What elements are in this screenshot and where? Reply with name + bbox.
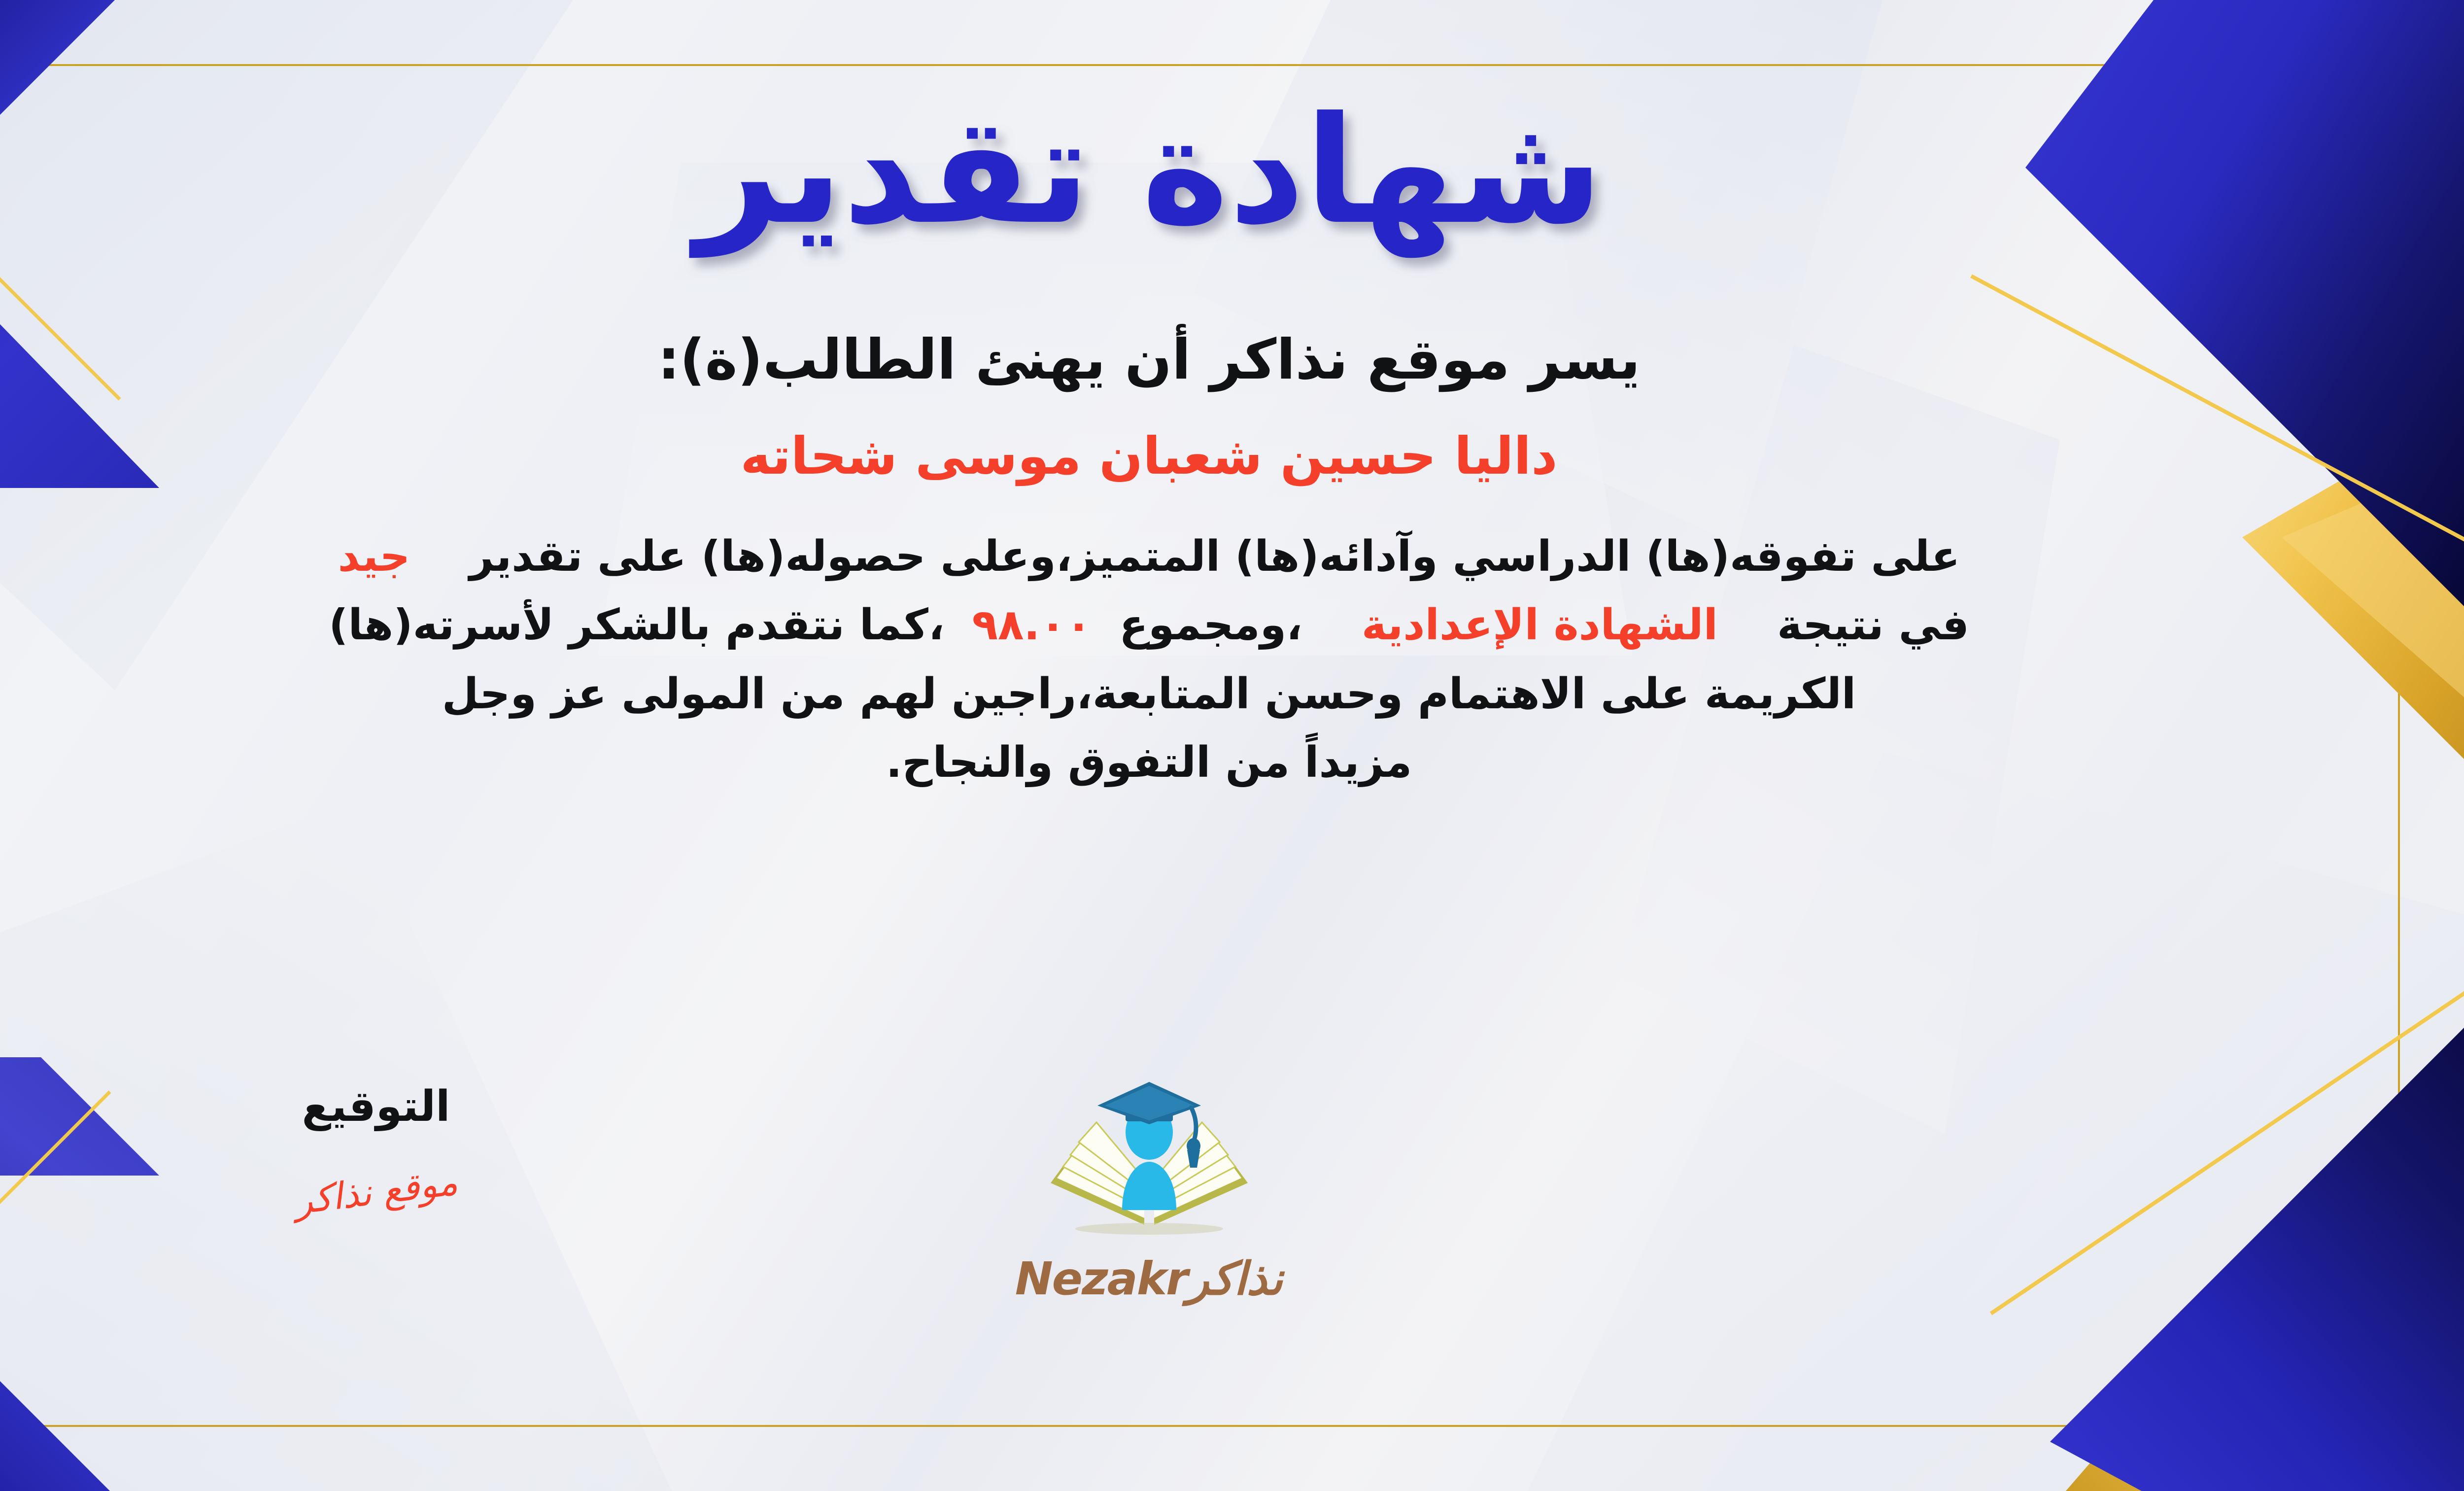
citation-part-5: الكريمة على الاهتمام وحسن المتابعة،راجين… [442, 669, 1856, 719]
citation-part-4: ،كما نتقدم بالشكر لأسرته(ها) [329, 600, 944, 650]
score-value: ٩٨.٠٠ [972, 600, 1092, 650]
title-text: شهادة تقدير [688, 85, 1603, 259]
citation-part-3: ،ومجموع [1119, 600, 1302, 650]
citation-part-1: على تفوقه(ها) الدراسي وآدائه(ها) المتميز… [469, 532, 1960, 581]
title-calligraphy-icon: شهادة تقدير [730, 74, 1568, 281]
certificate-footer: التوقيع موقع نذاكر [0, 1082, 2464, 1397]
signature-mark: موقع نذاكر [292, 1161, 460, 1223]
student-name: داليا حسين شعبان موسى شحاته [0, 424, 2312, 488]
grade-value: جيد [338, 532, 411, 581]
brand-logo: نذاكرNezakr [957, 1077, 1341, 1302]
signature-block: التوقيع موقع نذاكر [189, 1082, 563, 1213]
logo-wordmark: نذاكرNezakr [957, 1256, 1341, 1302]
certificate-title: شهادة تقدير [0, 74, 2464, 281]
graduate-book-icon [1043, 1077, 1255, 1254]
signature-label: التوقيع [189, 1082, 563, 1131]
citation-part-2: في نتيجة [1777, 600, 1969, 650]
logo-arabic: نذاكر [1187, 1252, 1283, 1305]
citation-part-6: مزيداً من التفوق والنجاح. [886, 738, 1412, 787]
citation-paragraph: على تفوقه(ها) الدراسي وآدائه(ها) المتميز… [40, 522, 2258, 797]
certificate-body: يسر موقع نذاكر أن يهنئ الطالب(ة): داليا … [0, 311, 2312, 797]
certificate-type: الشهادة الإعدادية [1362, 600, 1718, 650]
greeting-line: يسر موقع نذاكر أن يهنئ الطالب(ة): [0, 325, 2312, 394]
logo-latin: Nezakr [1015, 1256, 1188, 1302]
certificate-page: شهادة تقدير يسر موقع نذاكر أن يهنئ الطال… [0, 0, 2464, 1491]
